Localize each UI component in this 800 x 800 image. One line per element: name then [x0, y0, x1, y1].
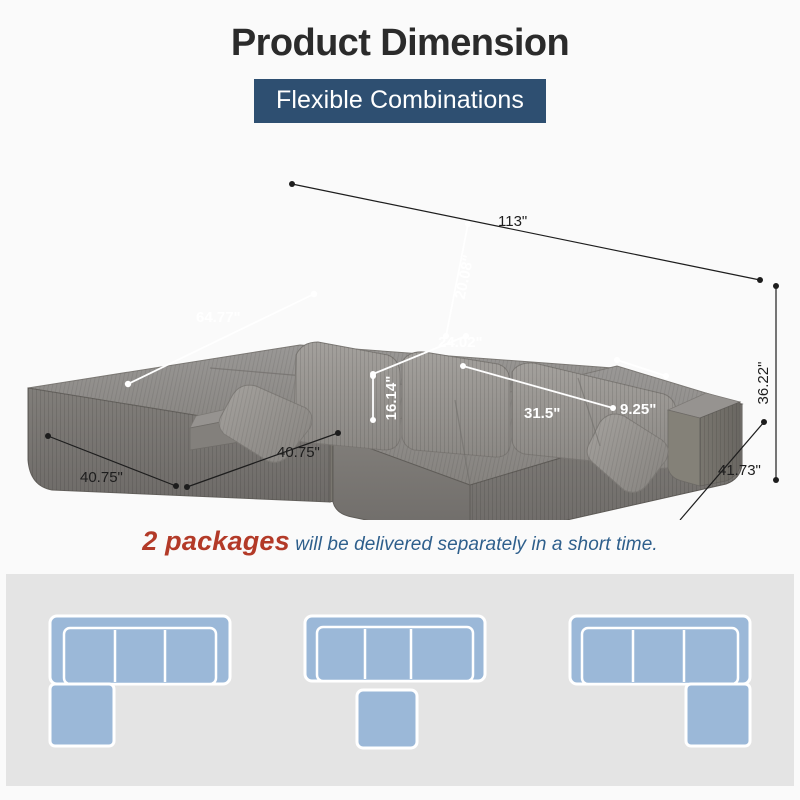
delivery-note: 2 packages will be delivered separately … — [0, 526, 800, 557]
config-right-chaise-diagram — [548, 574, 778, 774]
page-title: Product Dimension — [0, 0, 800, 65]
dimension-value-chaise-depth-front: 40.75" — [80, 469, 123, 486]
product-figure: 113" 36.22" 20.08" 64.77" — [0, 150, 800, 520]
sofa-illustration: 113" 36.22" 20.08" 64.77" — [0, 150, 800, 520]
dimension-value-chaise-depth-side: 40.75" — [277, 444, 320, 461]
config-right-chaise[interactable] — [531, 574, 794, 786]
dimension-backrest-height: 20.08" — [443, 221, 478, 339]
config-left-chaise[interactable] — [6, 574, 269, 786]
dimension-value-overall-height: 36.22" — [755, 362, 772, 405]
delivery-note-text: will be delivered separately in a short … — [290, 534, 658, 555]
dimension-value-sofa-depth: 41.73" — [718, 462, 761, 479]
config-separate-diagram — [285, 574, 515, 774]
configuration-panel — [6, 574, 794, 786]
subtitle-badge: Flexible Combinations — [254, 79, 546, 123]
config-separate[interactable] — [269, 574, 532, 786]
product-dimension-infographic: Product Dimension Flexible Combinations — [0, 0, 800, 800]
config-left-chaise-diagram — [22, 574, 252, 774]
dimension-overall-width: 113" — [289, 181, 763, 283]
dimension-value-chaise-length: 64.77" — [196, 309, 241, 326]
dimension-value-backrest-height: 20.08" — [452, 253, 478, 300]
dimension-value-seat-depth: 24.02" — [438, 334, 483, 351]
dimension-overall-height: 36.22" — [755, 283, 779, 483]
dimension-value-overall-width: 113" — [498, 213, 527, 230]
dimension-value-seat-width: 31.5" — [524, 405, 560, 422]
header: Product Dimension Flexible Combinations — [0, 0, 800, 123]
dimension-value-arm-width: 9.25" — [620, 401, 656, 418]
delivery-package-count: 2 packages — [142, 526, 290, 556]
dimension-value-seat-height: 16.14" — [383, 376, 400, 421]
